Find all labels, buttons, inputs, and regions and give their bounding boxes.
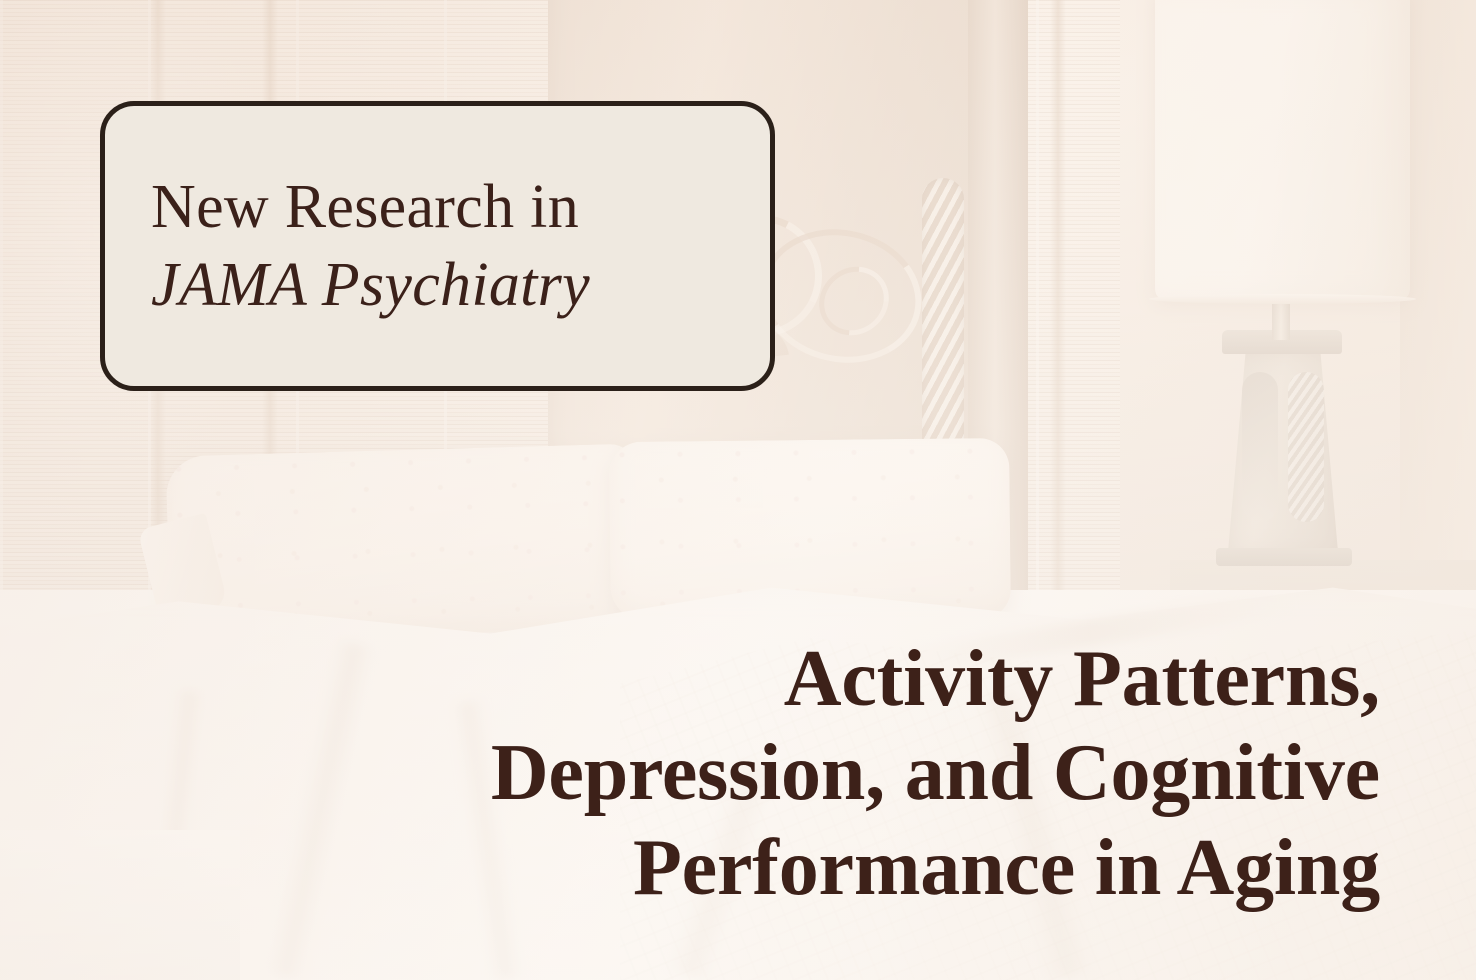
headline-line-2: Depression, and Cognitive xyxy=(380,726,1380,820)
article-headline: Activity Patterns, Depression, and Cogni… xyxy=(380,632,1380,915)
journal-badge: New Research in JAMA Psychiatry xyxy=(100,101,775,391)
headline-line-3: Performance in Aging xyxy=(380,821,1380,915)
badge-line-journal-name: JAMA Psychiatry xyxy=(151,246,770,324)
badge-line-primary: New Research in xyxy=(151,168,770,246)
promo-graphic: New Research in JAMA Psychiatry Activity… xyxy=(0,0,1476,980)
headline-line-1: Activity Patterns, xyxy=(380,632,1380,726)
